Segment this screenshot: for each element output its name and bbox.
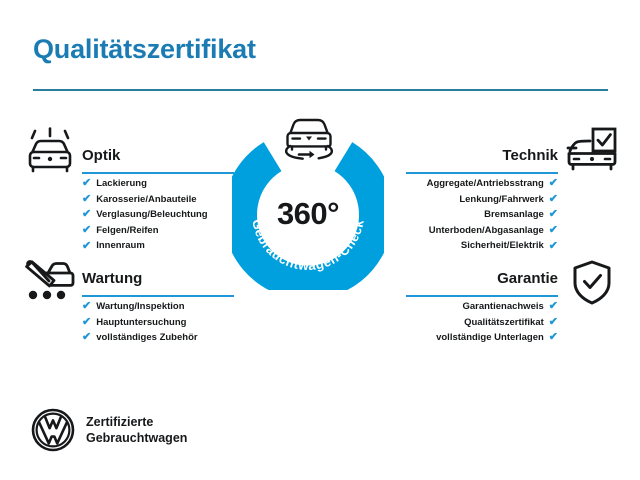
check-icon: ✔ <box>549 209 558 220</box>
list-item: Qualitätszertifikat✔ <box>406 315 558 331</box>
shield-check-icon <box>570 259 614 312</box>
list-item: Aggregate/Antriebsstrang✔ <box>406 176 558 192</box>
badge-360-gebrauchtwagen-check: Gebrauchtwagen-Check 360° <box>232 138 384 290</box>
section-technik-title: Technik <box>406 146 558 166</box>
list-item-label: Innenraum <box>96 238 145 254</box>
list-item: ✔vollständiges Zubehör <box>82 330 234 346</box>
section-garantie-title: Garantie <box>406 269 558 289</box>
list-item-label: Karosserie/Anbauteile <box>96 192 196 208</box>
check-icon: ✔ <box>82 332 91 343</box>
list-item-label: vollständiges Zubehör <box>96 330 197 346</box>
list-item-label: Lackierung <box>96 176 147 192</box>
list-item-label: vollständige Unterlagen <box>436 330 544 346</box>
section-wartung-header: Wartung <box>82 269 234 299</box>
section-wartung: Wartung ✔Wartung/Inspektion ✔Hauptunters… <box>82 269 234 346</box>
check-icon: ✔ <box>549 332 558 343</box>
section-wartung-list: ✔Wartung/Inspektion ✔Hauptuntersuchung ✔… <box>82 299 234 346</box>
list-item: ✔Wartung/Inspektion <box>82 299 234 315</box>
car-front-rotate-icon <box>281 112 337 162</box>
check-icon: ✔ <box>82 301 91 312</box>
list-item-label: Wartung/Inspektion <box>96 299 184 315</box>
check-icon: ✔ <box>549 241 558 252</box>
section-wartung-divider <box>82 295 234 297</box>
section-optik-divider <box>82 172 234 174</box>
section-garantie-header: Garantie <box>406 269 558 299</box>
check-icon: ✔ <box>82 241 91 252</box>
list-item: ✔Hauptuntersuchung <box>82 315 234 331</box>
vw-certified-text: Zertifizierte Gebrauchtwagen <box>86 414 187 446</box>
list-item-label: Qualitätszertifikat <box>464 315 544 331</box>
list-item-label: Unterboden/Abgasanlage <box>429 223 544 239</box>
car-wrench-icon <box>23 257 75 310</box>
check-icon: ✔ <box>82 178 91 189</box>
list-item: Lenkung/Fahrwerk✔ <box>406 192 558 208</box>
car-checkbox-icon <box>566 127 618 180</box>
check-icon: ✔ <box>549 194 558 205</box>
list-item: ✔Karosserie/Anbauteile <box>82 192 234 208</box>
list-item-label: Hauptuntersuchung <box>96 315 186 331</box>
list-item-label: Sicherheit/Elektrik <box>461 238 544 254</box>
check-icon: ✔ <box>549 225 558 236</box>
list-item: Sicherheit/Elektrik✔ <box>406 238 558 254</box>
section-wartung-title: Wartung <box>82 269 234 289</box>
list-item: ✔Verglasung/Beleuchtung <box>82 207 234 223</box>
section-garantie-list: Garantienachweis✔ Qualitätszertifikat✔ v… <box>406 299 558 346</box>
section-technik-header: Technik <box>406 146 558 176</box>
list-item: vollständige Unterlagen✔ <box>406 330 558 346</box>
title-divider <box>33 89 608 91</box>
section-optik-title: Optik <box>82 146 234 166</box>
list-item: Garantienachweis✔ <box>406 299 558 315</box>
list-item-label: Bremsanlage <box>484 207 544 223</box>
check-icon: ✔ <box>549 317 558 328</box>
list-item-label: Verglasung/Beleuchtung <box>96 207 207 223</box>
section-garantie: Garantie Garantienachweis✔ Qualitätszert… <box>406 269 558 346</box>
vw-certified-line2: Gebrauchtwagen <box>86 431 187 445</box>
check-icon: ✔ <box>82 194 91 205</box>
page-title: Qualitätszertifikat <box>33 34 256 65</box>
check-icon: ✔ <box>82 209 91 220</box>
section-optik-list: ✔Lackierung ✔Karosserie/Anbauteile ✔Verg… <box>82 176 234 254</box>
section-technik-divider <box>406 172 558 174</box>
vw-certified-footer: Zertifizierte Gebrauchtwagen <box>31 408 187 452</box>
certificate-page: Qualitätszertifikat Optik ✔Lackierung ✔K… <box>0 0 640 480</box>
check-icon: ✔ <box>82 317 91 328</box>
section-garantie-divider <box>406 295 558 297</box>
section-optik: Optik ✔Lackierung ✔Karosserie/Anbauteile… <box>82 146 234 254</box>
list-item: ✔Lackierung <box>82 176 234 192</box>
check-icon: ✔ <box>549 178 558 189</box>
list-item: ✔Felgen/Reifen <box>82 223 234 239</box>
list-item-label: Felgen/Reifen <box>96 223 158 239</box>
list-item: Bremsanlage✔ <box>406 207 558 223</box>
check-icon: ✔ <box>549 301 558 312</box>
list-item-label: Aggregate/Antriebsstrang <box>427 176 544 192</box>
list-item: Unterboden/Abgasanlage✔ <box>406 223 558 239</box>
vw-certified-line1: Zertifizierte <box>86 415 153 429</box>
section-optik-header: Optik <box>82 146 234 176</box>
vw-logo-icon <box>31 408 75 452</box>
check-icon: ✔ <box>82 225 91 236</box>
car-shine-icon <box>24 127 76 180</box>
list-item: ✔Innenraum <box>82 238 234 254</box>
section-technik-list: Aggregate/Antriebsstrang✔ Lenkung/Fahrwe… <box>406 176 558 254</box>
list-item-label: Garantienachweis <box>462 299 543 315</box>
section-technik: Technik Aggregate/Antriebsstrang✔ Lenkun… <box>406 146 558 254</box>
list-item-label: Lenkung/Fahrwerk <box>459 192 543 208</box>
